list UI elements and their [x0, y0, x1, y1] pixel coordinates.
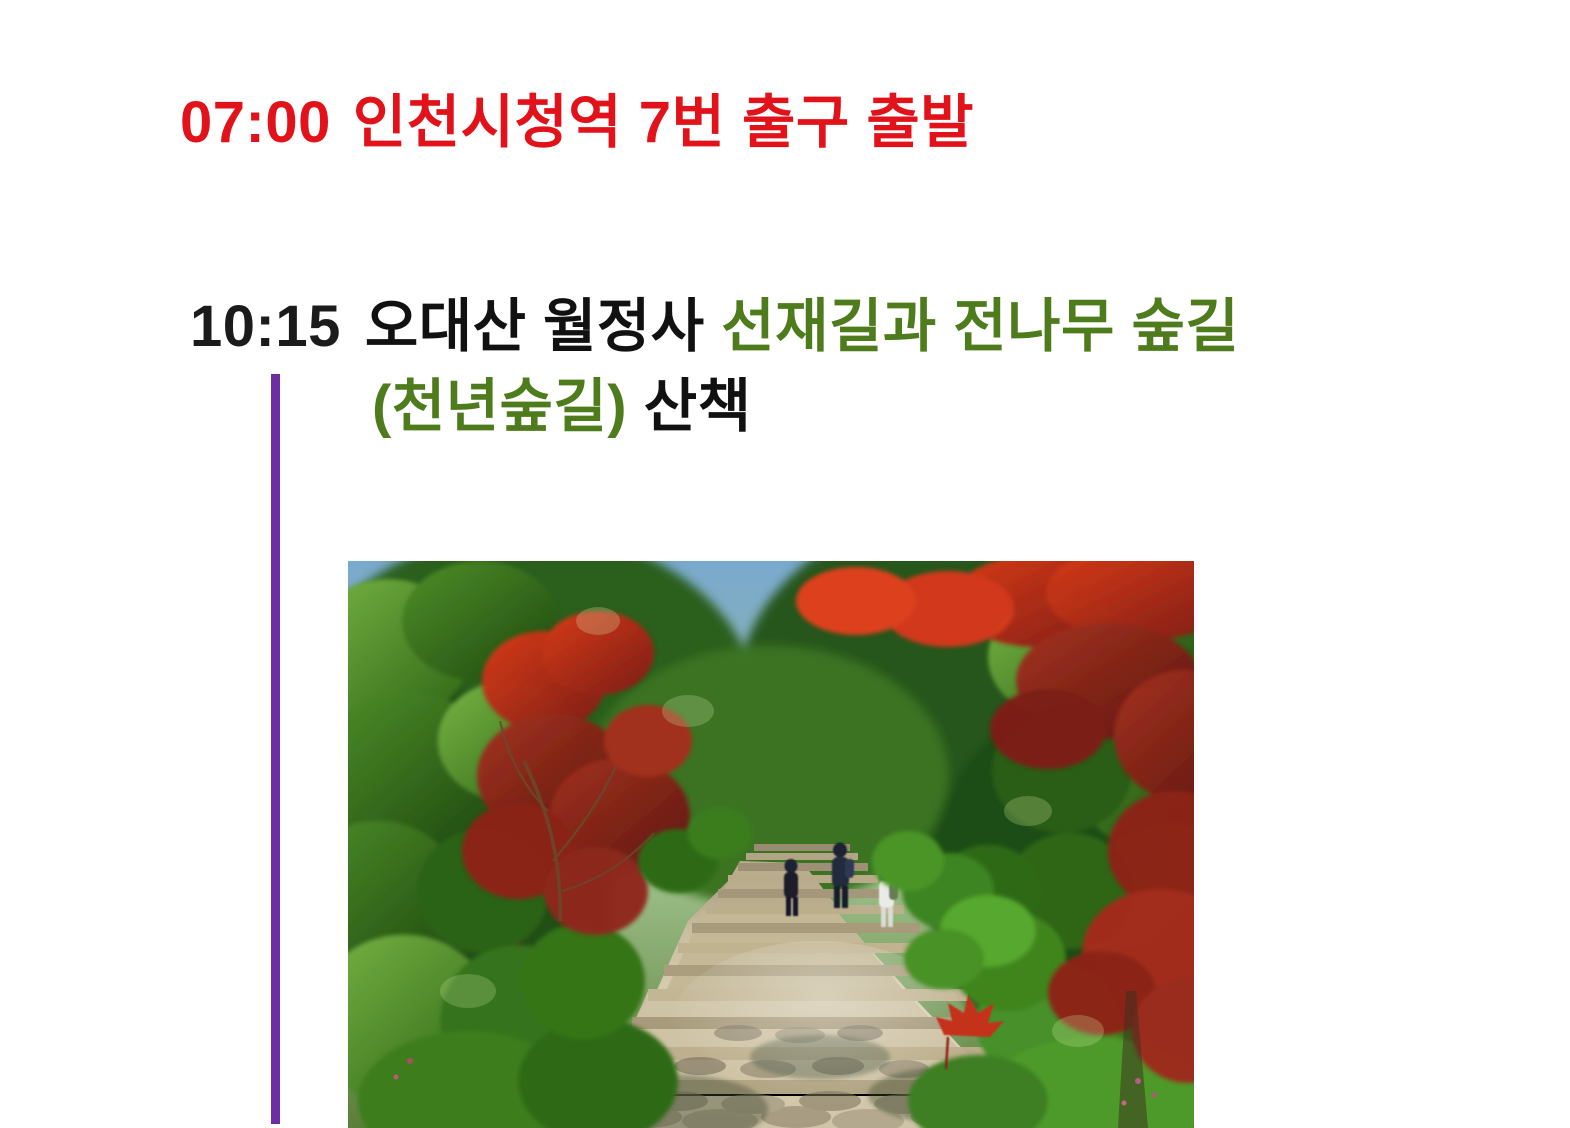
walk-text-trail: 선재길과 전나무 숲길	[721, 294, 1239, 359]
schedule-line-walk-continued: (천년숲길) 산책	[372, 376, 751, 439]
forest-stone-stairway-photo	[348, 561, 1194, 1128]
schedule-line-walk: 10:15오대산 월정사 선재길과 전나무 숲길	[190, 296, 1239, 359]
walk-text-activity: 산책	[644, 374, 752, 439]
departure-text: 인천시청역 7번 출구 출발	[353, 90, 974, 155]
purple-accent-rule	[271, 374, 280, 1124]
walk-time: 10:15	[190, 294, 341, 359]
walk-text-trail-alias: (천년숲길)	[372, 374, 627, 439]
walk-text-temple: 오대산 월정사	[365, 294, 705, 359]
slide-canvas: 07:00인천시청역 7번 출구 출발 10:15오대산 월정사 선재길과 전나…	[0, 0, 1570, 1128]
departure-time: 07:00	[180, 90, 331, 155]
schedule-line-departure: 07:00인천시청역 7번 출구 출발	[180, 92, 974, 155]
